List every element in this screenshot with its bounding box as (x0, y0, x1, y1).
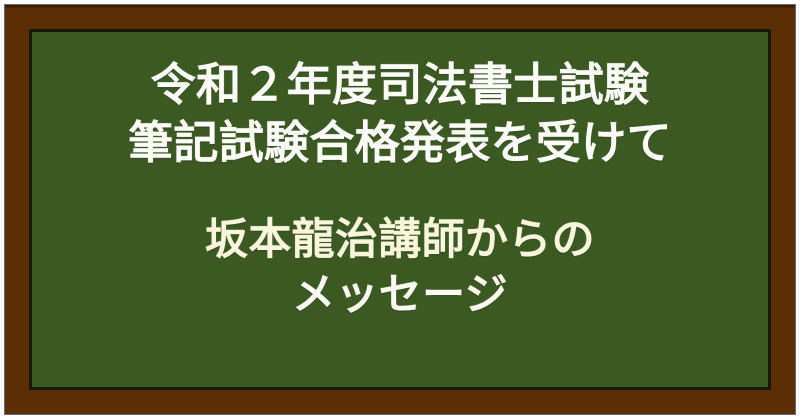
subheading-line-2: メッセージ (32, 268, 768, 323)
subheading-block: 坂本龍治講師からの メッセージ (32, 213, 768, 323)
heading-line-2: 筆記試験合格発表を受けて (32, 114, 768, 172)
heading-block: 令和２年度司法書士試験 筆記試験合格発表を受けて (32, 56, 768, 171)
chalkboard-outline: 令和２年度司法書士試験 筆記試験合格発表を受けて 坂本龍治講師からの メッセージ (29, 29, 771, 390)
heading-line-1: 令和２年度司法書士試験 (32, 56, 768, 114)
subheading-line-1: 坂本龍治講師からの (32, 213, 768, 268)
chalkboard-title-card: 令和２年度司法書士試験 筆記試験合格発表を受けて 坂本龍治講師からの メッセージ (0, 0, 800, 419)
chalkboard-surface: 令和２年度司法書士試験 筆記試験合格発表を受けて 坂本龍治講師からの メッセージ (32, 32, 768, 387)
wooden-frame-outline: 令和２年度司法書士試験 筆記試験合格発表を受けて 坂本龍治講師からの メッセージ (4, 4, 796, 415)
